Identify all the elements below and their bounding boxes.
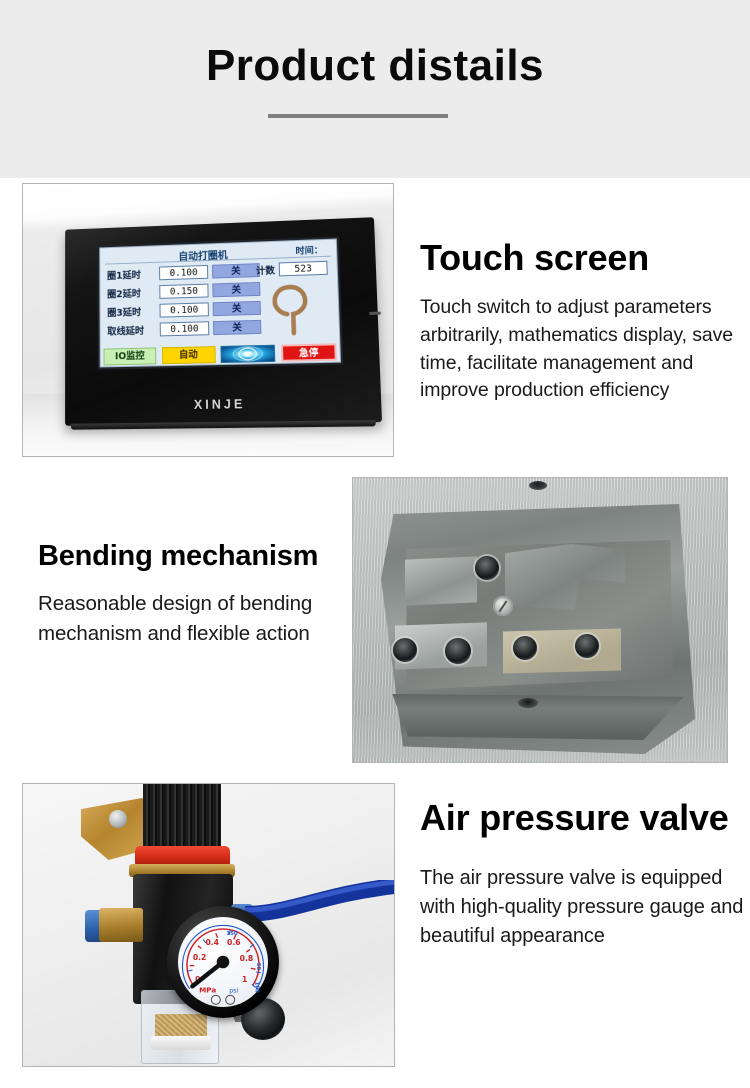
gauge-tick-1: 1 [242, 975, 247, 984]
tray-front-lip [383, 694, 693, 740]
gauge-psi-100: 100 [253, 982, 259, 993]
lcd-body: 圈1延时 0.100 关 圈2延时 0.150 关 圈3延时 0.100 关 [105, 260, 334, 350]
gauge-tick-0-8: 0.8 [240, 954, 254, 963]
lcd-screen-title: 自动打圈机 [178, 247, 227, 263]
section-title: Air pressure valve [420, 798, 746, 838]
param-state-toggle[interactable]: 关 [213, 320, 261, 335]
adjustment-knob [143, 783, 221, 854]
param-row: 圈2延时 0.150 关 [107, 282, 260, 301]
page-title: Product distails [0, 44, 750, 88]
gauge-unit-mpa: MPa [199, 986, 216, 995]
counter-label: 计数 [256, 263, 275, 278]
brass-fitting-left [99, 908, 143, 942]
section-body: Reasonable design of bending mechanism a… [38, 589, 358, 648]
param-value-field[interactable]: 0.100 [160, 321, 210, 336]
touch-screen-photo: 自动打圈机 时间： 圈1延时 0.100 关 圈2延时 0.150 关 [22, 183, 394, 457]
gauge-tick-0-2: 0.2 [193, 953, 207, 962]
auto-mode-button[interactable]: 自动 [162, 346, 216, 364]
product-details-page: Product distails 自动打圈机 时间： 圈1延时 0.100 关 [0, 0, 750, 1088]
wire-loop-icon [269, 282, 311, 337]
bending-mechanism-photo [352, 477, 728, 763]
param-state-toggle[interactable]: 关 [212, 263, 260, 278]
section-title: Touch screen [420, 238, 746, 278]
tool-block-left [405, 556, 477, 605]
param-label: 圈2延时 [107, 285, 155, 300]
param-row: 取线延时 0.100 关 [107, 320, 261, 338]
param-state-toggle[interactable]: 关 [212, 282, 260, 297]
gauge-unit-psi: psi [229, 988, 238, 995]
pressure-gauge: 0 0.2 0.4 0.6 0.8 1 50 100 150 MPa psi [167, 906, 279, 1018]
gauge-tick-0-4: 0.4 [205, 938, 219, 947]
bowl-cap [151, 1036, 211, 1050]
param-row: 圈3延时 0.100 关 [107, 301, 261, 319]
bracket-screw [109, 810, 127, 828]
param-state-toggle[interactable]: 关 [213, 301, 261, 316]
bolt [513, 636, 537, 660]
air-pressure-valve-text-block: Air pressure valve The air pressure valv… [420, 798, 746, 951]
gauge-psi-50: 50 [255, 963, 261, 971]
bolt [575, 634, 599, 658]
mounting-hole [529, 481, 547, 490]
param-value-field[interactable]: 0.150 [159, 284, 208, 299]
lip-hole [518, 698, 538, 708]
counter-value: 523 [279, 261, 328, 277]
title-underline [268, 114, 448, 118]
param-label: 取线延时 [107, 323, 156, 338]
emergency-stop-button[interactable]: 急停 [281, 343, 337, 361]
hmi-bezel: 自动打圈机 时间： 圈1延时 0.100 关 圈2延时 0.150 关 [65, 217, 382, 426]
section-body: Touch switch to adjust parameters arbitr… [420, 294, 746, 405]
section-body: The air pressure valve is equipped with … [420, 864, 746, 951]
bolt [475, 556, 499, 580]
bending-mechanism-text-block: Bending mechanism Reasonable design of b… [38, 540, 358, 649]
gauge-face: 0 0.2 0.4 0.6 0.8 1 50 100 150 MPa psi [178, 917, 268, 1007]
gauge-tick-0-6: 0.6 [227, 938, 241, 947]
center-screw [493, 596, 513, 616]
lcd-time-label: 时间： [295, 243, 323, 257]
io-monitor-button[interactable]: IO监控 [104, 347, 157, 365]
side-button [369, 312, 381, 315]
bolt [445, 638, 471, 664]
param-value-field[interactable]: 0.100 [159, 265, 208, 280]
swirl-graphic-button[interactable] [221, 345, 276, 363]
brand-logo: XINJE [65, 395, 381, 414]
param-row: 圈1延时 0.100 关 [107, 263, 260, 282]
param-label: 圈1延时 [107, 267, 155, 282]
section-title: Bending mechanism [38, 540, 358, 572]
hmi-lcd-screen: 自动打圈机 时间： 圈1延时 0.100 关 圈2延时 0.150 关 [97, 236, 343, 369]
counter-group: 计数 523 [256, 261, 328, 277]
gauge-psi-150: 150 [226, 931, 237, 937]
touch-screen-text-block: Touch screen Touch switch to adjust para… [420, 238, 746, 405]
air-pressure-valve-photo: 0 0.2 0.4 0.6 0.8 1 50 100 150 MPa psi [22, 783, 395, 1067]
bolt [393, 638, 417, 662]
param-value-field[interactable]: 0.100 [160, 302, 209, 317]
param-label: 圈3延时 [107, 304, 156, 319]
